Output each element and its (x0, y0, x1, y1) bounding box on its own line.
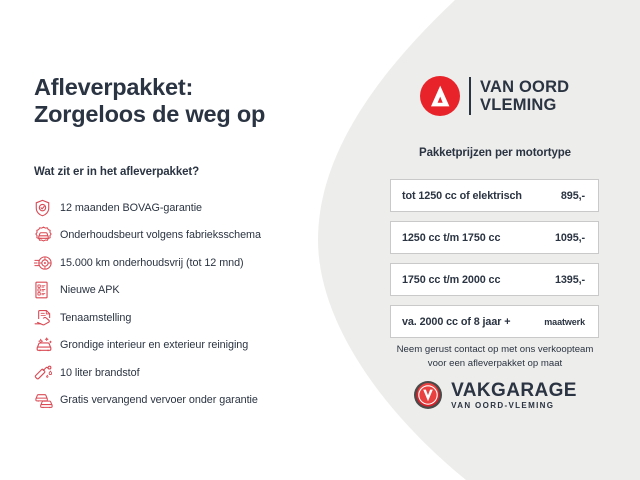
brand-wordmark: VAN OORD VLEMING (480, 78, 569, 114)
car-sparkle-clean-icon (34, 334, 60, 356)
price-value: 1395,- (555, 274, 585, 286)
list-item-label: Grondige interieur en exterieur reinigin… (60, 339, 248, 351)
list-item: Gratis vervangend vervoer onder garantie (34, 387, 334, 415)
list-item: Tenaamstelling (34, 304, 334, 332)
list-item: Onderhoudsbeurt volgens fabrieksschema (34, 222, 334, 250)
list-item-label: 12 maanden BOVAG-garantie (60, 202, 202, 214)
table-row: 1750 cc t/m 2000 cc 1395,- (390, 263, 599, 296)
left-column: Afleverpakket: Zorgeloos de weg op Wat z… (34, 74, 334, 128)
brand-name-line-1: VAN OORD (480, 78, 569, 96)
vakgarage-logo: VAKGARAGE VAN OORD-VLEMING (370, 380, 620, 410)
car-service-gear-icon (34, 224, 60, 246)
hand-signing-icon (34, 307, 60, 329)
price-table: tot 1250 cc of elektrisch 895,- 1250 cc … (390, 179, 599, 347)
vakgarage-subname: VAN OORD-VLEMING (451, 402, 577, 410)
van-oord-a-mark-icon (420, 76, 460, 116)
list-item: Nieuwe APK (34, 277, 334, 305)
list-item-label: 10 liter brandstof (60, 367, 140, 379)
list-item-label: Nieuwe APK (60, 284, 120, 296)
right-column: VAN OORD VLEMING Pakketprijzen per motor… (370, 0, 620, 480)
vakgarage-v-badge-icon (413, 380, 443, 410)
vakgarage-wordmark: VAKGARAGE VAN OORD-VLEMING (451, 381, 577, 410)
price-table-title: Pakketprijzen per motortype (370, 147, 620, 159)
van-oord-vleming-logo: VAN OORD VLEMING (420, 76, 569, 116)
table-row: tot 1250 cc of elektrisch 895,- (390, 179, 599, 212)
price-value: 1095,- (555, 232, 585, 244)
page-title: Afleverpakket: Zorgeloos de weg op (34, 74, 334, 128)
list-item: 12 maanden BOVAG-garantie (34, 194, 334, 222)
wheel-speed-icon (34, 252, 60, 274)
page-title-line-2: Zorgeloos de weg op (34, 101, 334, 128)
feature-list: 12 maanden BOVAG-garantie Onderhoudsbeur… (34, 194, 334, 414)
page-title-line-1: Afleverpakket: (34, 74, 193, 100)
shield-check-icon (34, 197, 60, 219)
table-row: 1250 cc t/m 1750 cc 1095,- (390, 221, 599, 254)
checklist-document-icon (34, 279, 60, 301)
table-row: va. 2000 cc of 8 jaar + maatwerk (390, 305, 599, 338)
price-label: va. 2000 cc of 8 jaar + (402, 316, 510, 328)
promo-card: Afleverpakket: Zorgeloos de weg op Wat z… (0, 0, 640, 480)
list-item-label: 15.000 km onderhoudsvrij (tot 12 mnd) (60, 257, 244, 269)
contact-note-line-2: voor een afleverpakket op maat (370, 357, 620, 371)
logo-divider (469, 77, 471, 115)
price-label: 1250 cc t/m 1750 cc (402, 232, 500, 244)
price-label: 1750 cc t/m 2000 cc (402, 274, 500, 286)
brand-name-line-2: VLEMING (480, 96, 569, 114)
features-subheading: Wat zit er in het afleverpakket? (34, 166, 199, 178)
list-item: 15.000 km onderhoudsvrij (tot 12 mnd) (34, 249, 334, 277)
list-item-label: Onderhoudsbeurt volgens fabrieksschema (60, 229, 261, 241)
list-item-label: Tenaamstelling (60, 312, 131, 324)
list-item-label: Gratis vervangend vervoer onder garantie (60, 394, 258, 406)
contact-note: Neem gerust contact op met ons verkoopte… (370, 343, 620, 370)
vakgarage-name: VAKGARAGE (451, 381, 577, 400)
price-value: 895,- (561, 190, 585, 202)
price-label: tot 1250 cc of elektrisch (402, 190, 522, 202)
list-item: 10 liter brandstof (34, 359, 334, 387)
list-item: Grondige interieur en exterieur reinigin… (34, 332, 334, 360)
fuel-nozzle-icon (34, 362, 60, 384)
two-cars-icon (34, 389, 60, 411)
contact-note-line-1: Neem gerust contact op met ons verkoopte… (370, 343, 620, 357)
price-value: maatwerk (544, 317, 585, 327)
